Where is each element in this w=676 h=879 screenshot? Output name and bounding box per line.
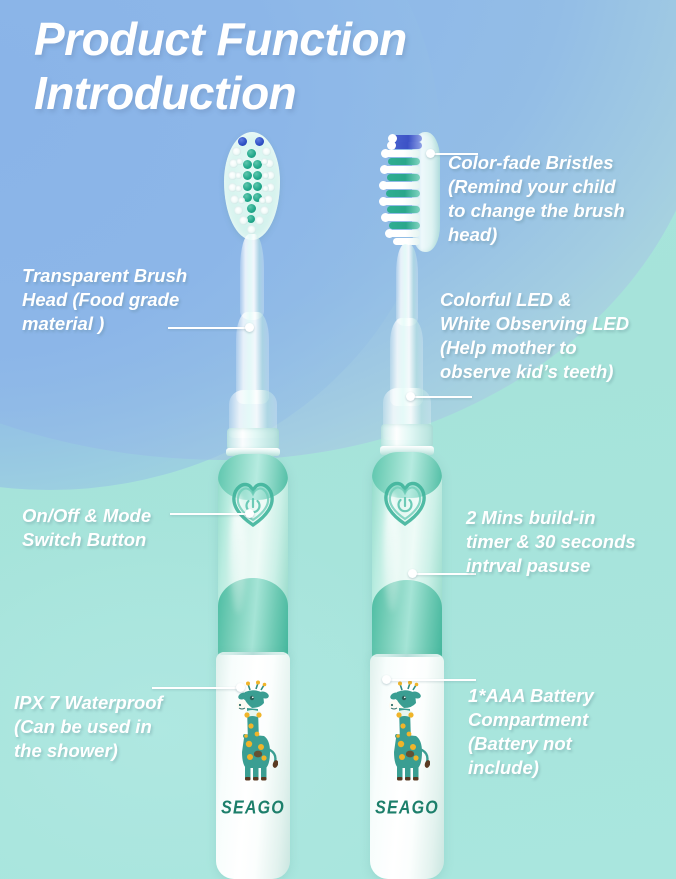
brush-neck-transparent bbox=[240, 234, 264, 320]
handle-lower-band-side bbox=[372, 580, 442, 664]
callout-on-off-mode-switch: On/Off & Mode Switch Button bbox=[22, 504, 222, 552]
callout-timer: 2 Mins build-in timer & 30 seconds intrv… bbox=[466, 506, 676, 578]
battery-seam bbox=[220, 652, 285, 655]
leader-dot-transparent-brush-head bbox=[245, 323, 254, 332]
power-mode-heart-button-side[interactable] bbox=[378, 476, 432, 528]
page-title: Product Function Introduction bbox=[34, 12, 594, 121]
seago-brand-wordmark: SEAGO bbox=[216, 798, 290, 819]
battery-compartment-side: SEAGO bbox=[370, 654, 444, 879]
leader-dot-color-fade-bristles bbox=[426, 149, 435, 158]
brush-head-collar-side bbox=[381, 424, 433, 448]
power-mode-heart-button[interactable] bbox=[226, 477, 280, 529]
leader-dot-on-off-switch bbox=[245, 509, 254, 518]
leader-line-colorful-led bbox=[412, 396, 472, 398]
giraffe-mascot-icon-side bbox=[382, 678, 430, 788]
callout-color-fade-bristles: Color-fade Bristles (Remind your child t… bbox=[448, 151, 673, 247]
callout-ipx7-waterproof: IPX 7 Waterproof (Can be used in the sho… bbox=[14, 691, 219, 763]
leader-dot-battery-compartment bbox=[382, 675, 391, 684]
giraffe-mascot-icon bbox=[230, 678, 278, 788]
brush-head-bristles-front bbox=[224, 132, 280, 240]
leader-dot-colorful-led bbox=[406, 392, 415, 401]
brush-neck-transparent-side bbox=[396, 244, 418, 326]
handle-lower-band bbox=[218, 578, 288, 662]
leader-line-battery-compartment bbox=[388, 679, 476, 681]
leader-line-ipx7 bbox=[152, 687, 240, 689]
brush-head-collar bbox=[227, 428, 279, 450]
callout-colorful-led: Colorful LED & White Observing LED (Help… bbox=[440, 288, 676, 384]
callout-transparent-brush-head: Transparent Brush Head (Food grade mater… bbox=[22, 264, 232, 336]
callout-battery-compartment: 1*AAA Battery Compartment (Battery not i… bbox=[468, 684, 676, 780]
leader-dot-timer bbox=[408, 569, 417, 578]
seago-brand-wordmark-side: SEAGO bbox=[370, 798, 444, 819]
leader-dot-ipx7 bbox=[236, 683, 245, 692]
product-infographic-poster: Product Function Introduction bbox=[0, 0, 676, 879]
battery-seam-side bbox=[374, 654, 439, 657]
